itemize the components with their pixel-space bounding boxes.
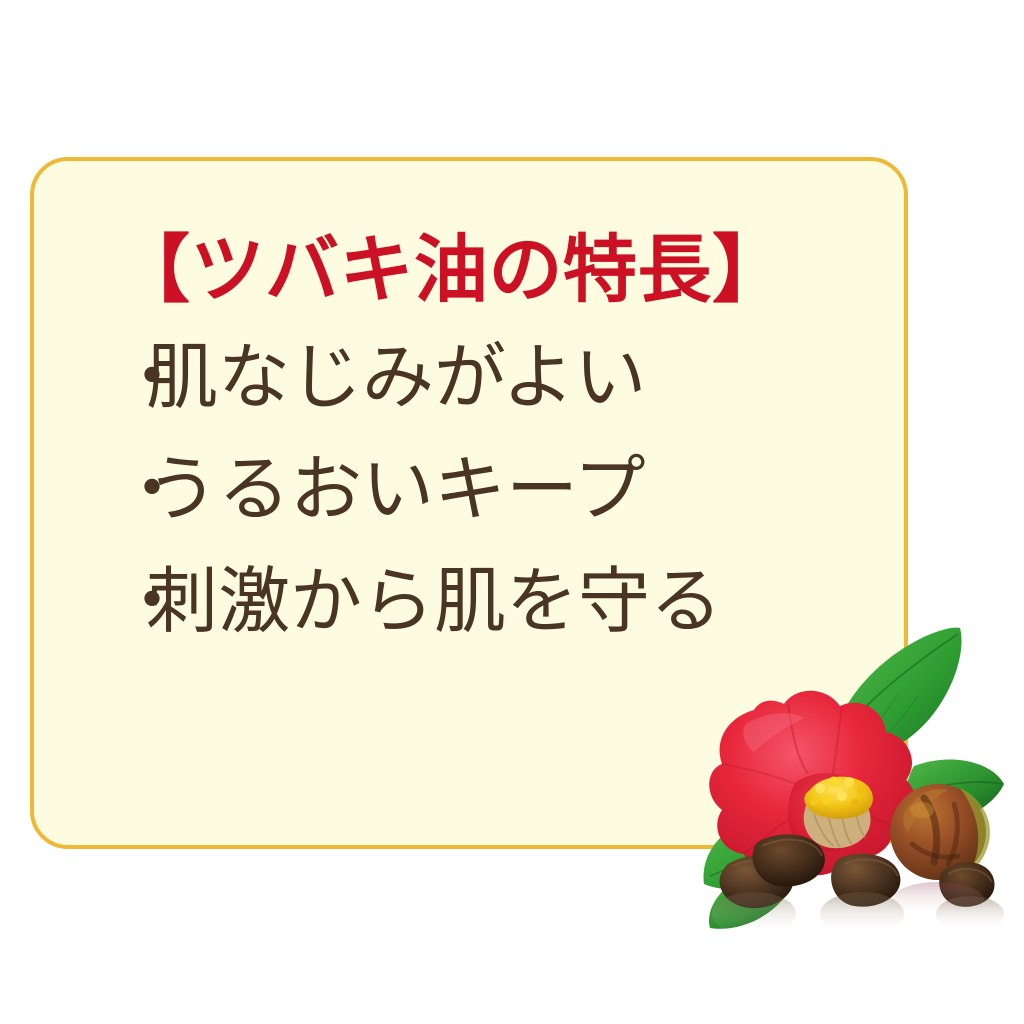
bullet-dot-icon: ・ [116,341,146,413]
camellia-flower-seeds-illustration [692,614,1024,946]
bullet-dot-icon: ・ [116,565,146,637]
list-item: ・うるおいキープ [116,453,876,525]
list-item-label: うるおいキープ [146,447,646,531]
feature-bullet-list: ・肌なじみがよい ・うるおいキープ ・刺激から肌を守る [116,341,876,637]
poster-canvas: 【ツバキ油の特長】 ・肌なじみがよい ・うるおいキープ ・刺激から肌を守る [0,0,1024,1024]
list-item: ・肌なじみがよい [116,341,876,413]
feature-text-block: 【ツバキ油の特長】 ・肌なじみがよい ・うるおいキープ ・刺激から肌を守る [116,233,876,637]
list-item-label: 肌なじみがよい [146,335,646,419]
page-title: 【ツバキ油の特長】 [116,233,876,307]
bullet-dot-icon: ・ [116,453,146,525]
list-item-label: 刺激から肌を守る [146,559,722,643]
